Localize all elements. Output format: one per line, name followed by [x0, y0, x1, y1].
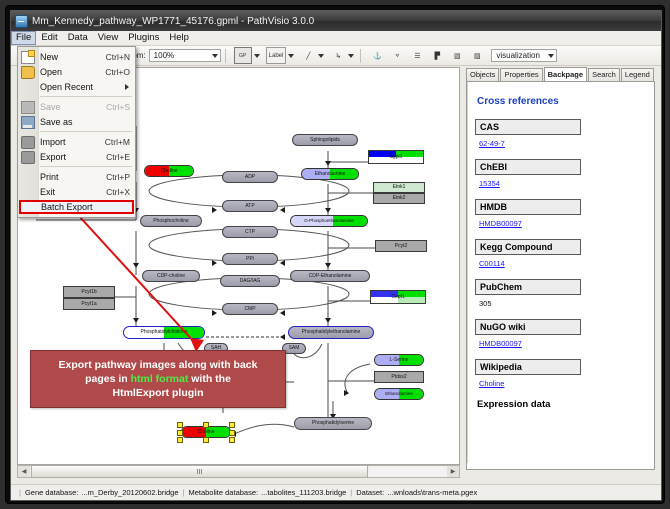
xref-value-wikipedia[interactable]: Choline [479, 379, 646, 388]
file-menu-accel-print: Ctrl+P [106, 172, 135, 182]
anchor-icon[interactable]: ⚓ [369, 48, 385, 63]
import-icon [21, 136, 35, 149]
window-title: Mm_Kennedy_pathway_WP1771_45176.gpml - P… [32, 16, 314, 27]
xref-source-wikipedia: Wikipedia [475, 359, 581, 375]
file-menu-separator [40, 96, 132, 97]
arrow-icon [280, 334, 285, 340]
pathway-node-ppi[interactable]: PPi [222, 253, 278, 265]
annotation-line-2b: with the [188, 373, 231, 385]
pathway-node-phosphatidylcholines[interactable]: Phosphatidylcholines [123, 326, 205, 339]
annotation-line-2a: pages in [85, 373, 131, 385]
arrow-icon [133, 263, 139, 268]
status-metabolite-database-label: Metabolite database: [188, 488, 258, 497]
panel-scroll-gutter[interactable] [466, 81, 468, 463]
group-icon[interactable]: ⟇ [389, 48, 405, 63]
xref-value-hmdb[interactable]: HMDB00097 [479, 219, 646, 228]
file-menu-accel-export: Ctrl+E [106, 152, 135, 162]
pathway-node-o-phosphoethanolamine[interactable]: O-Phosphoethanolamine [290, 215, 368, 227]
file-menu-dropdown: New Ctrl+N Open Ctrl+O Open Recent Save … [17, 46, 136, 218]
pathway-node-ctp[interactable]: CTP [222, 226, 278, 238]
chevron-down-icon [212, 54, 218, 58]
arrow-icon [280, 310, 285, 316]
file-menu-item-export[interactable]: Export Ctrl+E [18, 149, 135, 164]
backpage-content: Cross references CAS 62-49-7 ChEBI 15354… [466, 81, 655, 470]
status-divider-0: | [19, 488, 21, 497]
file-menu-label-import: Import [40, 137, 105, 147]
menu-bar: File Edit Data View Plugins Help [11, 31, 661, 46]
align-icon[interactable]: ☰ [409, 48, 425, 63]
side-panel: Objects Properties Backpage Search Legen… [466, 67, 655, 478]
file-menu-accel-import: Ctrl+M [105, 137, 135, 147]
file-menu-item-save[interactable]: Save Ctrl+S [18, 99, 135, 114]
cross-references-title: Cross references [477, 96, 646, 107]
status-bar: | Gene database: ...m_Derby_20120602.bri… [11, 484, 661, 500]
file-menu-separator-2 [40, 131, 132, 132]
menu-data[interactable]: Data [63, 31, 93, 45]
file-menu-item-print[interactable]: Print Ctrl+P [18, 169, 135, 184]
scroll-right-icon[interactable]: ▶ [447, 466, 459, 477]
label-icon[interactable]: Label [266, 47, 287, 64]
file-menu-label-open: Open [40, 67, 105, 77]
tab-objects[interactable]: Objects [466, 68, 499, 81]
pathvisio-icon [15, 15, 28, 28]
pathway-node-pcyt2[interactable]: Pcyt2 [375, 240, 427, 252]
xref-value-chebi[interactable]: 15354 [479, 179, 646, 188]
arrow-icon [344, 390, 349, 396]
file-menu-item-import[interactable]: Import Ctrl+M [18, 134, 135, 149]
status-divider-1: | [183, 488, 185, 497]
pathway-node-etnk2[interactable]: Etnk2 [373, 193, 425, 204]
arrow-icon [325, 161, 331, 166]
file-menu-accel-save: Ctrl+S [106, 102, 135, 112]
new-document-icon [21, 51, 35, 64]
save-disk-icon [21, 101, 35, 114]
pathway-node-sgpl1[interactable]: Sgpl1 [368, 150, 424, 164]
menu-help[interactable]: Help [164, 31, 194, 45]
menu-view[interactable]: View [93, 31, 123, 45]
window-outer-frame: Mm_Kennedy_pathway_WP1771_45176.gpml - P… [6, 6, 664, 503]
pathway-node-dag-iag[interactable]: DAG/IAG [220, 275, 280, 287]
arrow-icon [325, 208, 331, 213]
file-menu-label-print: Print [40, 172, 106, 182]
status-metabolite-database-value: ...tabolites_111203.bridge [261, 488, 346, 497]
label-dropdown-icon[interactable] [288, 54, 294, 58]
tab-backpage[interactable]: Backpage [544, 67, 587, 82]
menu-plugins[interactable]: Plugins [123, 31, 164, 45]
xref-value-pubchem: 305 [479, 299, 646, 308]
pathway-node-cept1[interactable]: Cept1 [370, 290, 426, 304]
chevron-right-icon [125, 84, 129, 90]
file-menu-item-save-as[interactable]: Save as [18, 114, 135, 129]
tab-legend[interactable]: Legend [621, 68, 654, 81]
file-menu-label-save: Save [40, 102, 106, 112]
arrow-icon [133, 318, 139, 323]
pathway-node-ethanolamine-bottom[interactable]: Ethanolamine [374, 388, 424, 400]
pathway-node-cdp-choline[interactable]: CDP-choline [142, 270, 200, 282]
file-menu-label-batch-export: Batch Export [41, 202, 132, 212]
status-dataset-label: Dataset: [356, 488, 384, 497]
stack-icon[interactable]: ▧ [449, 48, 465, 63]
pathway-node-cmp[interactable]: CMP [222, 303, 278, 315]
canvas-horizontal-scrollbar[interactable]: ◀ ▶ [17, 465, 460, 478]
export-icon [21, 151, 35, 164]
scrollbar-track[interactable] [369, 466, 447, 477]
file-menu-label-save-as: Save as [40, 117, 130, 127]
pathvisio-window: Mm_Kennedy_pathway_WP1771_45176.gpml - P… [10, 10, 662, 501]
file-menu-accel-open: Ctrl+O [105, 67, 135, 77]
toolbar-separator-2 [360, 49, 361, 63]
expression-data-title: Expression data [477, 399, 646, 410]
xref-value-cas[interactable]: 62-49-7 [479, 139, 646, 148]
annotation-line-1: Export pathway images along with back [59, 358, 258, 372]
arrow-icon [325, 318, 331, 323]
status-dataset-value: ...wnloads\trans-meta.pgex [387, 488, 477, 497]
line-icon[interactable]: ╱ [300, 48, 316, 63]
menu-edit[interactable]: Edit [36, 31, 62, 45]
pathway-node-choline-selected[interactable]: Choline [181, 426, 231, 438]
arrow-icon [212, 310, 217, 316]
tab-properties[interactable]: Properties [500, 68, 542, 81]
file-menu-item-open-recent[interactable]: Open Recent [18, 79, 135, 94]
save-as-icon [21, 116, 35, 129]
file-menu-accel-new: Ctrl+N [106, 52, 135, 62]
annotation-callout: Export pathway images along with back pa… [30, 350, 286, 408]
file-menu-item-exit[interactable]: Exit Ctrl+X [18, 184, 135, 199]
pathway-node-phosphatidylserine[interactable]: Phosphatidylserine [294, 417, 372, 430]
scrollbar-thumb[interactable] [31, 465, 368, 478]
file-menu-label-exit: Exit [40, 187, 106, 197]
xref-value-kegg-compound[interactable]: C00114 [479, 259, 646, 268]
title-bar: Mm_Kennedy_pathway_WP1771_45176.gpml - P… [11, 11, 661, 31]
arrow-icon [325, 263, 331, 268]
pathway-node-pcyt1b[interactable]: Pcyt1b [63, 286, 115, 298]
file-menu-item-new[interactable]: New Ctrl+N [18, 49, 135, 64]
pathway-node-etnk1[interactable]: Etnk1 [373, 182, 425, 193]
file-menu-label-new: New [40, 52, 106, 62]
status-gene-database-label: Gene database: [25, 488, 78, 497]
datanode-dropdown-icon[interactable] [254, 54, 260, 58]
arrow-icon [280, 260, 285, 266]
arrow-icon [280, 207, 285, 213]
annotation-line-3: HtmlExport plugin [113, 386, 204, 400]
pathway-node-atp[interactable]: ATP [222, 200, 278, 212]
status-gene-database-value: ...m_Derby_20120602.bridge [81, 488, 178, 497]
file-menu-item-open[interactable]: Open Ctrl+O [18, 64, 135, 79]
pathway-node-sphingolipids[interactable]: Sphingolipids [292, 134, 358, 146]
xref-source-hmdb: HMDB [475, 199, 581, 215]
open-folder-icon [21, 66, 35, 79]
pathway-node-phosphatidylethanolamine[interactable]: Phosphatidylethanolamine [288, 326, 374, 339]
xref-source-kegg-compound: Kegg Compound [475, 239, 581, 255]
pathway-node-phosphocholine[interactable]: Phosphocholine [140, 215, 202, 227]
annotation-line-2: pages in html format with the [85, 372, 231, 386]
status-divider-2: | [350, 488, 352, 497]
visualization-combo[interactable]: visualization [491, 49, 557, 62]
pathway-node-choline-top[interactable]: Choline [144, 165, 194, 177]
scroll-left-icon[interactable]: ◀ [18, 466, 30, 477]
file-menu-label-export: Export [40, 152, 106, 162]
menu-file[interactable]: File [11, 31, 36, 45]
order-icon[interactable]: ▨ [469, 48, 485, 63]
pathway-node-ptdss2[interactable]: Ptdss2 [374, 371, 424, 383]
zoom-combo[interactable]: 100% [149, 49, 221, 62]
pathway-node-pcyt1a[interactable]: Pcyt1a [63, 298, 115, 310]
arrow-icon [212, 207, 217, 213]
xref-source-pubchem: PubChem [475, 279, 581, 295]
pathway-node-cdp-ethanolamine[interactable]: CDP-Ethanolamine [290, 270, 370, 282]
toolbar-separator [225, 49, 226, 63]
tab-search[interactable]: Search [588, 68, 620, 81]
xref-source-nugo-wiki: NuGO wiki [475, 319, 581, 335]
zoom-value: 100% [154, 51, 174, 60]
arrow-icon [212, 260, 217, 266]
visualization-value: visualization [496, 51, 540, 60]
distribute-icon[interactable]: ▛ [429, 48, 445, 63]
xref-source-cas: CAS [475, 119, 581, 135]
xref-source-chebi: ChEBI [475, 159, 581, 175]
interaction-dropdown-icon[interactable] [348, 54, 354, 58]
pathway-node-adp[interactable]: ADP [222, 171, 278, 183]
file-menu-item-batch-export[interactable]: Batch Export [19, 200, 134, 214]
xref-value-nugo-wiki[interactable]: HMDB00097 [479, 339, 646, 348]
chevron-down-icon [548, 54, 554, 58]
line-dropdown-icon[interactable] [318, 54, 324, 58]
pathway-node-ethanolamine-top[interactable]: Ethanolamine [301, 168, 359, 180]
file-menu-separator-3 [40, 166, 132, 167]
file-menu-accel-exit: Ctrl+X [106, 187, 135, 197]
datanode-icon[interactable]: GP [234, 47, 252, 64]
annotation-highlight: html format [131, 373, 189, 385]
pathway-node-l-serine[interactable]: L-Serine [374, 354, 424, 366]
side-panel-tabs: Objects Properties Backpage Search Legen… [466, 67, 655, 81]
file-menu-label-open-recent: Open Recent [40, 82, 125, 92]
interaction-icon[interactable]: ↳ [330, 48, 346, 63]
